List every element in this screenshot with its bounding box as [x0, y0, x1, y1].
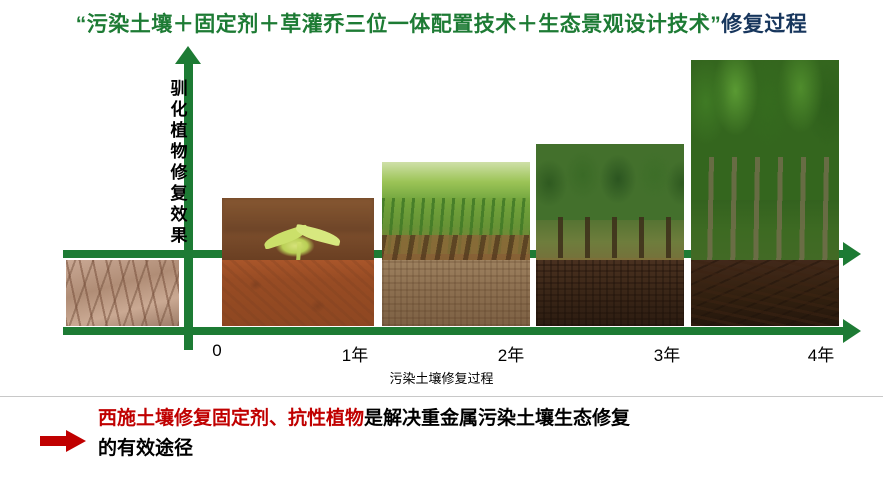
section-divider	[0, 396, 883, 397]
conclusion-rest-line1: 是解决重金属污染土壤生态修复	[364, 408, 630, 429]
red-arrow-icon	[40, 430, 86, 457]
x-tick-2: 2年	[486, 341, 536, 366]
y-axis-label-char-2: 植	[168, 120, 190, 141]
page-title-green-part: “污染土壤＋固定剂＋草灌乔三位一体配置技术＋生态景观设计技术”	[76, 13, 722, 36]
y-axis-label-char-6: 效	[168, 204, 190, 225]
conclusion-rest-line2: 的有效途径	[98, 438, 193, 459]
panel-soil-year4	[691, 260, 839, 326]
x-tick-3: 3年	[642, 341, 692, 366]
page-title-dark-part: 修复过程	[721, 13, 807, 36]
x-tick-4: 4年	[796, 341, 846, 366]
x-axis-middle-arrowhead	[843, 242, 861, 266]
x-axis-label: 污染土壤修复过程	[0, 368, 883, 387]
panel-soil-year1	[222, 260, 374, 326]
conclusion-highlight: 西施土壤修复固定剂、抗性植物	[98, 408, 364, 429]
y-axis-label-char-7: 果	[168, 225, 190, 246]
x-tick-1: 1年	[330, 341, 380, 366]
y-axis-label-char-3: 物	[168, 141, 190, 162]
y-axis-label: 驯 化 植 物 修 复 效 果	[168, 78, 190, 246]
page-title: “污染土壤＋固定剂＋草灌乔三位一体配置技术＋生态景观设计技术”修复过程	[0, 8, 883, 38]
y-axis-label-char-0: 驯	[168, 78, 190, 99]
x-tick-0: 0	[197, 341, 237, 361]
restoration-process-diagram: 驯 化 植 物 修 复 效 果	[0, 46, 883, 386]
y-axis-label-char-5: 复	[168, 183, 190, 204]
panel-soil-year3	[536, 260, 684, 326]
conclusion-text: 西施土壤修复固定剂、抗性植物是解决重金属污染土壤生态修复 的有效途径	[98, 404, 868, 464]
y-axis-label-char-1: 化	[168, 99, 190, 120]
panel-soil-year0	[66, 260, 179, 326]
x-axis-bottom-arrowhead	[843, 319, 861, 343]
x-axis-bottom	[63, 327, 848, 335]
panel-soil-year2	[382, 260, 530, 326]
y-axis-label-char-4: 修	[168, 162, 190, 183]
